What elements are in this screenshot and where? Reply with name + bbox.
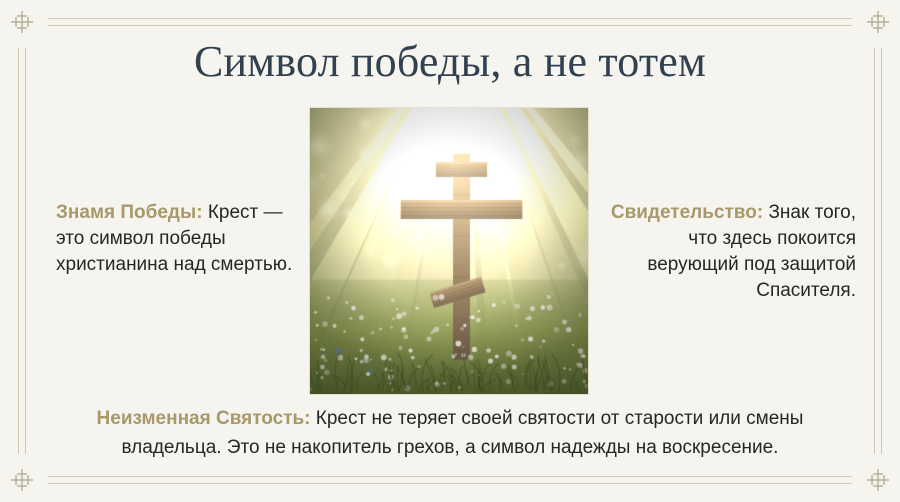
cross-ornament-icon bbox=[863, 7, 893, 37]
text-block-right: Свидетельство: Знак того, что здесь поко… bbox=[604, 200, 856, 304]
slide-title: Символ победы, а не тотем bbox=[0, 36, 900, 88]
frame-rule-top-inner bbox=[48, 25, 852, 26]
frame-rule-left-inner bbox=[25, 48, 26, 454]
frame-rule-right-inner bbox=[874, 48, 875, 454]
frame-rule-bottom-outer bbox=[48, 483, 852, 484]
text-block-left-lead: Знамя Победы: bbox=[56, 202, 203, 223]
text-block-bottom-lead: Неизменная Святость: bbox=[97, 408, 311, 429]
frame-rule-left-outer bbox=[18, 48, 19, 454]
cross-photo bbox=[310, 108, 588, 394]
cross-ornament-icon bbox=[7, 465, 37, 495]
frame-rule-right-outer bbox=[881, 48, 882, 454]
cross-photo-canvas bbox=[310, 108, 588, 394]
text-block-bottom: Неизменная Святость: Крест не теряет сво… bbox=[52, 404, 848, 462]
cross-ornament-icon bbox=[863, 465, 893, 495]
cross-ornament-icon bbox=[7, 7, 37, 37]
text-block-left: Знамя Победы: Крест — это символ победы … bbox=[56, 200, 296, 278]
frame-rule-bottom-inner bbox=[48, 476, 852, 477]
frame-rule-top-outer bbox=[48, 18, 852, 19]
text-block-right-lead: Свидетельство: bbox=[611, 202, 763, 223]
slide-canvas: Символ победы, а не тотем Знамя Победы: … bbox=[0, 0, 900, 502]
